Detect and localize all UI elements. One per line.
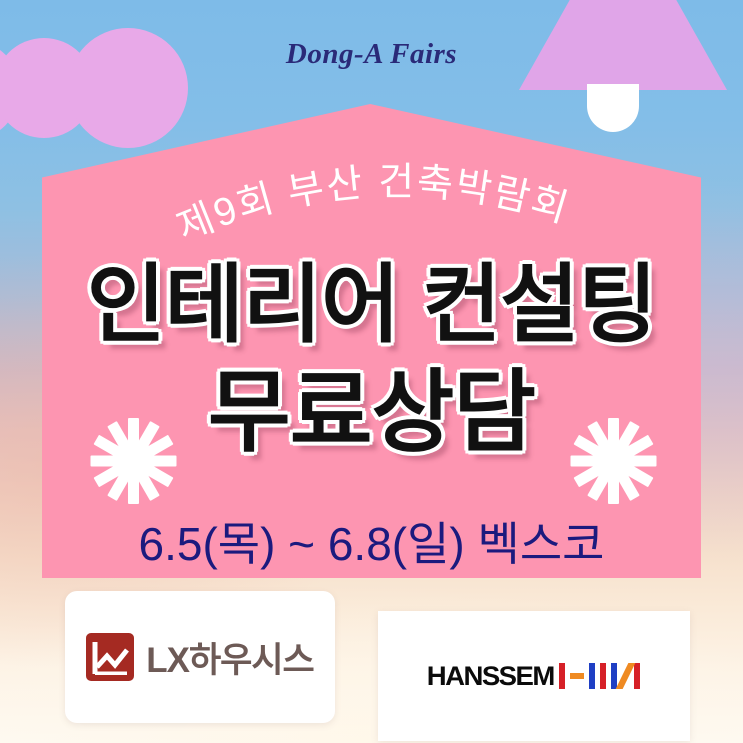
- hanssem-bar-6: [616, 663, 636, 689]
- hanssem-bar-2: [570, 673, 584, 679]
- sponsor-card-hanssem: HANSSEM: [378, 611, 690, 741]
- starburst-icon-right: [570, 418, 656, 504]
- sponsor-card-lx-hausys: LX하우시스: [65, 591, 335, 723]
- hanssem-bar-marks: [559, 663, 640, 689]
- brand-title: Dong-A Fairs: [0, 38, 743, 71]
- starburst-icon-left: [90, 418, 176, 504]
- lx-hausys-wordmark: LX하우시스: [146, 632, 314, 683]
- hanssem-bar-7: [634, 663, 640, 689]
- poster-canvas: Dong-A Fairs 제9회 부산 건축박람회 인테리어 컨설팅 무료상담: [0, 0, 743, 743]
- lx-mark-icon: [86, 633, 134, 681]
- hanssem-bar-1: [559, 663, 565, 689]
- hanssem-wordmark: HANSSEM: [426, 661, 553, 692]
- hanssem-bar-4: [600, 663, 606, 689]
- hanssem-bar-3: [589, 663, 595, 689]
- lx-hausys-logo: LX하우시스: [86, 632, 314, 683]
- date-venue-text: 6.5(목) ~ 6.8(일) 벡스코: [0, 508, 743, 574]
- headline-line-1: 인테리어 컨설팅: [0, 262, 743, 348]
- hanssem-logo: HANSSEM: [428, 661, 641, 692]
